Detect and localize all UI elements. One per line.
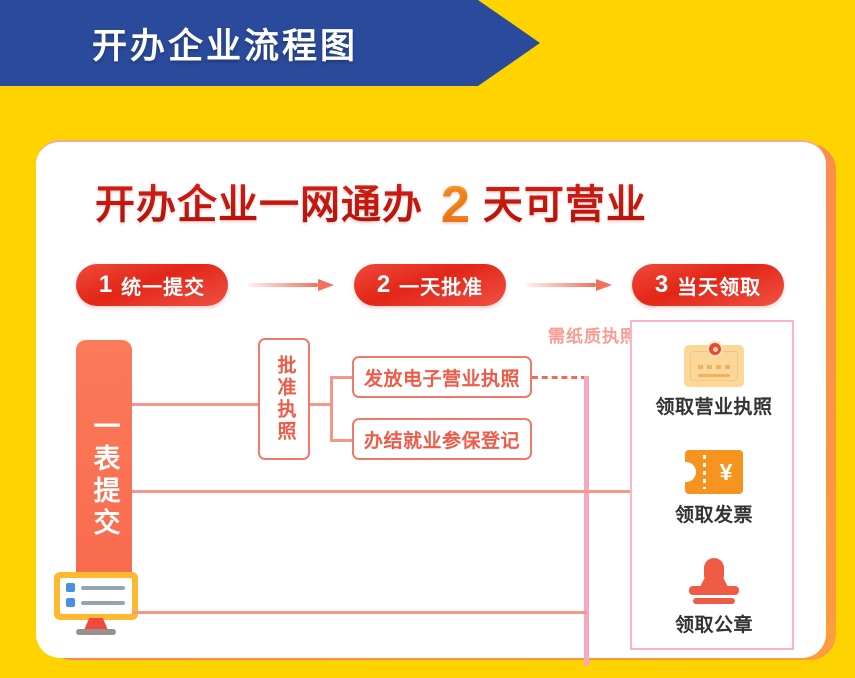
step-2-label: 一天批准 [399, 271, 483, 300]
monitor-form-icon [50, 570, 142, 636]
step-1-number: 1 [99, 271, 112, 299]
left-submit-bar-label: 一表提交 [88, 412, 119, 540]
approve-license-box-label: 批准执照 [274, 355, 295, 443]
title-suffix: 天可营业 [483, 183, 647, 227]
title-prefix: 开办企业一网通办 [95, 183, 423, 227]
step-3-number: 3 [655, 271, 668, 299]
connector-branch-trunk [330, 377, 333, 442]
employment-insurance-box: 办结就业参保登记 [352, 418, 532, 460]
connector-bar-to-approve [132, 403, 258, 406]
connector-vertical-pink [584, 376, 589, 666]
invoice-yen-icon: ¥ [685, 450, 743, 494]
connector-dashed-paper-license [532, 376, 587, 379]
panel-item-official-seal-label: 领取公章 [632, 610, 796, 637]
step-badge-3[interactable]: 3 当天领取 [632, 264, 784, 306]
step-3-label: 当天领取 [677, 271, 761, 300]
step-1-label: 统一提交 [121, 271, 205, 300]
header-banner: 开办企业流程图 [0, 0, 540, 86]
connector-branch-top [330, 376, 354, 379]
panel-item-invoice[interactable]: ¥ 领取发票 [632, 444, 796, 527]
step-badges: 1 统一提交 2 一天批准 3 当天领取 [76, 264, 776, 310]
title-days-number: 2 [441, 175, 471, 235]
issue-e-license-box: 发放电子营业执照 [352, 356, 532, 398]
page-title: 开办企业一网通办2天可营业 [95, 172, 647, 235]
employment-insurance-label: 办结就业参保登记 [364, 426, 520, 453]
connector-approve-out [310, 403, 332, 406]
issue-e-license-label: 发放电子营业执照 [364, 364, 520, 391]
connector-bar-bottom [132, 611, 587, 614]
step-badge-2[interactable]: 2 一天批准 [354, 264, 506, 306]
step-arrow-2-3-icon [526, 279, 612, 291]
step-2-number: 2 [377, 271, 390, 299]
approve-license-box: 批准执照 [258, 338, 310, 460]
step-arrow-1-2-icon [248, 279, 334, 291]
banner-title: 开办企业流程图 [92, 18, 358, 69]
step-badge-1[interactable]: 1 统一提交 [76, 264, 228, 306]
business-license-icon [684, 341, 744, 387]
infographic-canvas: 开办企业流程图 开办企业一网通办2天可营业 1 统一提交 2 一天批准 3 当天… [0, 0, 855, 678]
panel-item-official-seal[interactable]: 领取公章 [632, 554, 796, 637]
official-seal-icon [687, 558, 741, 606]
panel-item-business-license[interactable]: 领取营业执照 [632, 336, 796, 419]
connector-bar-to-panel [132, 490, 644, 493]
paper-license-note: 需纸质执照 [548, 322, 638, 347]
panel-item-invoice-label: 领取发票 [632, 500, 796, 527]
panel-item-business-license-label: 领取营业执照 [632, 392, 796, 419]
collect-items-panel: 领取营业执照 ¥ 领取发票 领 [630, 320, 794, 650]
connector-branch-bottom [330, 439, 354, 442]
